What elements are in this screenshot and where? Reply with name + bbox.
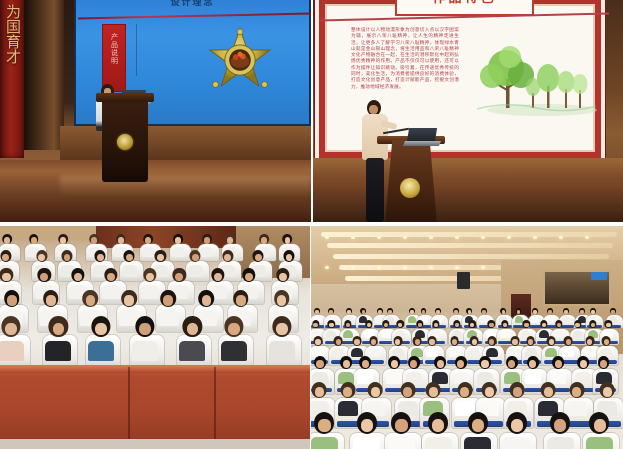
audience-person — [311, 320, 321, 337]
audience-person — [538, 382, 558, 414]
audience-person — [550, 356, 566, 382]
audience-person — [132, 316, 158, 358]
audience-person — [588, 320, 598, 337]
audience-person — [312, 356, 328, 382]
audience-person — [392, 336, 404, 356]
audience-person — [503, 412, 530, 449]
audience-person — [586, 412, 613, 449]
audience-person — [452, 320, 462, 337]
audience-person — [432, 356, 448, 382]
audience-person — [597, 382, 617, 414]
audience-person — [381, 320, 391, 337]
audience-person — [500, 320, 510, 337]
slide-vertical-rule — [136, 24, 137, 76]
audience-person — [547, 412, 574, 449]
ceiling-downlight — [351, 266, 355, 269]
audience-person — [386, 356, 402, 382]
audience-person — [477, 356, 493, 382]
audience-person — [357, 356, 373, 382]
audience-person — [311, 382, 329, 414]
audience-person — [521, 320, 531, 337]
audience-person — [545, 336, 557, 356]
audience-person — [398, 382, 418, 414]
photo-collage: 为国育才 设计理念 产品说明 — [0, 0, 623, 449]
audience-person — [122, 250, 137, 275]
ceiling-downlight — [455, 236, 459, 239]
audience-person — [326, 320, 336, 337]
audience-person — [406, 356, 422, 382]
audience-person — [507, 382, 527, 414]
audience-person — [600, 336, 612, 356]
ceiling-downlight — [585, 236, 589, 239]
slide-title: 设计理念 — [74, 0, 311, 8]
audience-person — [368, 336, 380, 356]
audience-person — [269, 316, 295, 358]
audience-person — [388, 412, 415, 449]
laptop — [404, 128, 440, 148]
ceiling-downlight — [533, 236, 537, 239]
photo-top-right: 作品特色 整体设计以人物动漫形象为创意切入点以汉字图案为辅，展示八荣八耻精神，让… — [313, 0, 623, 222]
photo-bottom-left — [0, 226, 310, 449]
audience-person — [426, 336, 438, 356]
photo-bottom-right — [311, 226, 623, 449]
exit-sign — [591, 272, 607, 280]
audience-person — [453, 356, 469, 382]
audience-person — [575, 356, 591, 382]
ceiling-downlight — [403, 266, 407, 269]
ceiling-downlight — [559, 236, 563, 239]
audience-person — [603, 320, 613, 337]
audience-person — [188, 250, 203, 275]
ceiling-light-strip — [333, 254, 609, 259]
audience-person — [141, 268, 159, 297]
wall-banner: 为国育才 — [0, 0, 24, 158]
ceiling-downlight — [377, 236, 381, 239]
stage-floor — [313, 180, 623, 222]
ceiling-downlight — [481, 266, 485, 269]
floor — [0, 439, 310, 449]
audience-person — [411, 336, 423, 356]
ceiling-downlight — [481, 236, 485, 239]
audience-seating — [311, 304, 623, 449]
audience-person — [179, 316, 205, 358]
ceiling-downlight — [507, 236, 511, 239]
slide-divider-line — [78, 13, 311, 20]
audience-person — [343, 320, 353, 337]
audience-person — [464, 412, 491, 449]
audience-person — [567, 382, 587, 414]
audience-person — [415, 320, 425, 337]
ceiling-downlight — [429, 236, 433, 239]
audience-person — [338, 356, 354, 382]
watercolor-trees-illustration — [467, 40, 597, 120]
audience-person — [449, 336, 461, 356]
judges-table — [0, 365, 310, 449]
slide-title: 作品特色 — [397, 0, 532, 8]
audience-person — [158, 290, 179, 324]
audience-person — [364, 320, 374, 337]
audience-person — [88, 316, 114, 358]
audience-person — [596, 356, 612, 382]
audience-person — [353, 412, 380, 449]
projection-screen: 作品特色 整体设计以人物动漫形象为创意切入点以汉字图案为辅，展示八荣八耻精神，让… — [315, 0, 605, 162]
audience-person — [0, 316, 24, 358]
audience-person — [338, 382, 358, 414]
floor-reflection — [60, 175, 311, 197]
audience-person — [468, 336, 480, 356]
audience-person — [423, 382, 443, 414]
audience-person — [531, 308, 539, 322]
school-crest-icon — [400, 178, 420, 198]
wall-speaker — [457, 272, 470, 289]
audience-person — [102, 268, 120, 297]
audience-person — [573, 320, 583, 337]
audience-person — [395, 320, 405, 337]
audience-person — [172, 234, 185, 256]
audience-person — [584, 336, 596, 356]
presenter-person — [361, 100, 389, 222]
audience-person — [221, 316, 247, 358]
ceiling-downlight — [377, 266, 381, 269]
audience-person — [479, 382, 499, 414]
audience-person — [455, 382, 475, 414]
audience-person — [554, 320, 564, 337]
school-crest-icon — [117, 134, 133, 150]
wall-pillar — [24, 0, 64, 150]
slide-body-text: 整体设计以人物动漫形象为创意切入点以汉字图案为辅，展示八荣八耻精神，让人生的精神… — [351, 28, 459, 91]
audience-person — [45, 316, 71, 358]
ceiling-downlight — [325, 236, 329, 239]
star-badge-logo — [203, 24, 277, 96]
audience-person — [525, 336, 537, 356]
lectern — [102, 98, 148, 182]
slide-title-plate: 作品特色 — [395, 0, 534, 16]
ceiling-light-strip — [321, 232, 617, 237]
ceiling-downlight — [429, 266, 433, 269]
ceiling-light-strip — [327, 243, 613, 248]
audience-person — [509, 336, 521, 356]
audience-person — [312, 336, 324, 356]
audience-person — [525, 356, 541, 382]
audience-person — [351, 336, 363, 356]
wall-banner-text: 为国育才 — [0, 0, 25, 64]
slide-red-label: 产品说明 — [102, 24, 126, 92]
audience-person — [365, 382, 385, 414]
ceiling-downlight — [403, 236, 407, 239]
audience-seating — [0, 234, 310, 374]
audience-person — [311, 412, 338, 449]
audience-person — [332, 336, 344, 356]
ceiling-downlight — [351, 236, 355, 239]
audience-person — [486, 336, 498, 356]
audience-person — [562, 336, 574, 356]
audience-person — [431, 320, 441, 337]
audience-person — [486, 320, 496, 337]
slide-red-label-text: 产品说明 — [110, 33, 119, 65]
ceiling-downlight — [325, 266, 329, 269]
audience-person — [467, 320, 477, 337]
photo-top-left: 为国育才 设计理念 产品说明 — [0, 0, 311, 222]
audience-person — [504, 356, 520, 382]
ceiling-downlight — [455, 266, 459, 269]
audience-person — [539, 320, 549, 337]
audience-person — [425, 412, 452, 449]
